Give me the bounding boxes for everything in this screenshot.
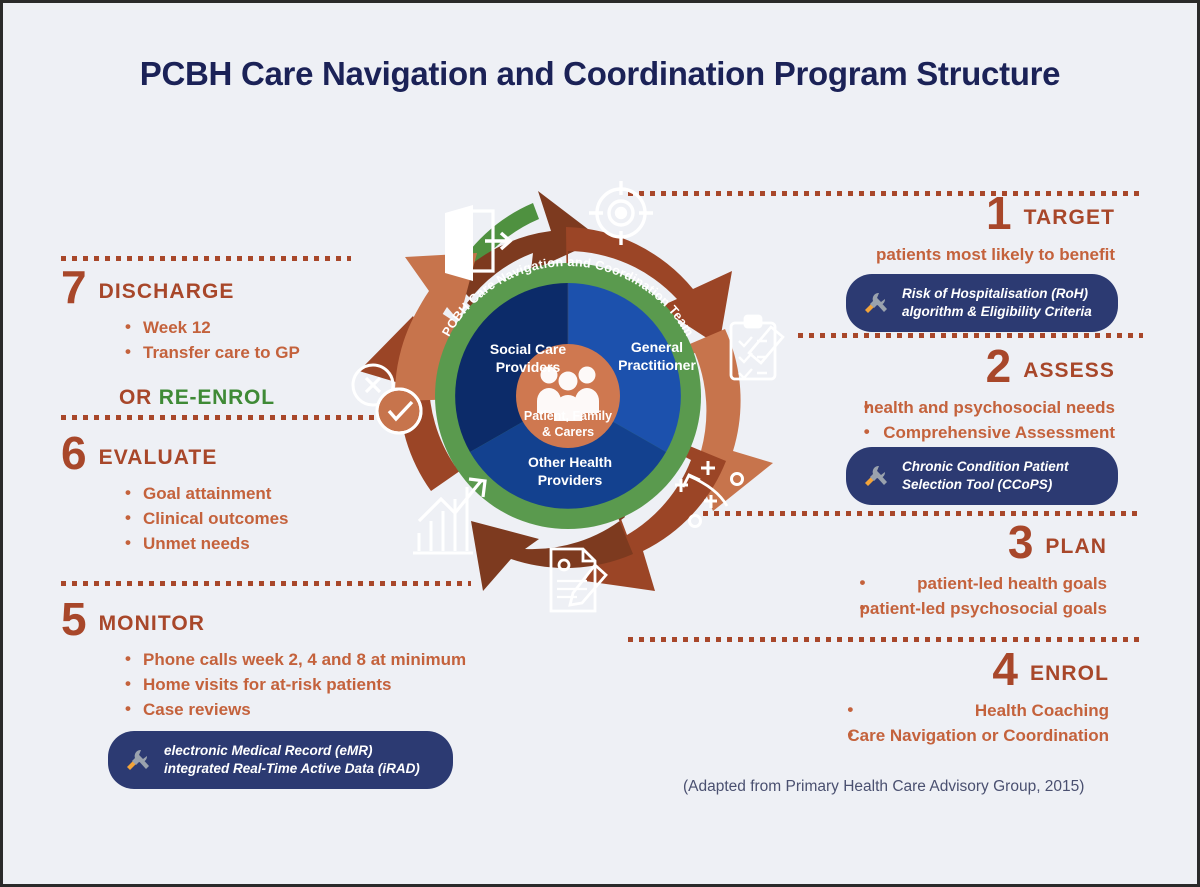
bullet-item: Week 12 (121, 316, 300, 341)
bullet-item: Health Coaching (847, 699, 1109, 724)
step-number: 4 (992, 651, 1017, 689)
step-number: 6 (61, 435, 86, 473)
step-bullets: Week 12 Transfer care to GP (121, 316, 300, 366)
step-label: DISCHARGE (99, 280, 235, 307)
tool-pill-emr-irad[interactable]: electronic Medical Record (eMR) integrat… (108, 731, 453, 789)
step-label: EVALUATE (99, 446, 218, 473)
step-5-monitor: 5 MONITOR Phone calls week 2, 4 and 8 at… (61, 601, 466, 723)
bullet-item: Goal attainment (121, 482, 288, 507)
step-4-enrol: 4 ENROL Health Coaching Care Navigation … (847, 651, 1109, 749)
bullet-item: Home visits for at-risk patients (121, 673, 466, 698)
tool-pill-ccops[interactable]: Chronic Condition Patient Selection Tool… (846, 447, 1118, 505)
wheel-svg: PCBH Care Navigation and Coordination Te… (333, 161, 803, 641)
step-number: 7 (61, 269, 86, 307)
step-bullets: health and psychosocial needs Comprehens… (864, 396, 1115, 446)
pill-text: Chronic Condition Patient Selection Tool… (902, 458, 1069, 494)
step-label: MONITOR (99, 612, 205, 639)
step-label: ASSESS (1023, 359, 1115, 386)
bullet-item: Unmet needs (121, 532, 288, 557)
bar-chart-growth-icon (413, 479, 485, 553)
bullet-item: Comprehensive Assessment (864, 421, 1115, 446)
step-bullets: Phone calls week 2, 4 and 8 at minimum H… (121, 648, 466, 723)
bullet-item: patient-led health goals (859, 572, 1107, 597)
source-footnote: (Adapted from Primary Health Care Adviso… (683, 778, 1084, 796)
step-7-discharge: 7 DISCHARGE Week 12 Transfer care to GP … (61, 269, 300, 410)
step-number: 3 (1008, 524, 1033, 562)
pill-text: electronic Medical Record (eMR) integrat… (164, 742, 420, 778)
step-number: 2 (986, 348, 1011, 386)
bullet-item: patient-led psychosocial goals (859, 597, 1107, 622)
divider-above-assess (798, 333, 1143, 338)
clipboard-checklist-icon (731, 316, 783, 379)
segment-label-gp: General Practitioner (601, 339, 713, 374)
step-number: 1 (986, 195, 1011, 233)
infographic-frame: PCBH Care Navigation and Coordination Pr… (0, 0, 1200, 887)
page-title: PCBH Care Navigation and Coordination Pr… (3, 55, 1197, 93)
segment-label-other-health: Other Health Providers (511, 454, 629, 489)
step-bullets: Health Coaching Care Navigation or Coord… (847, 699, 1109, 749)
bullet-item: health and psychosocial needs (864, 396, 1115, 421)
pill-text: Risk of Hospitalisation (RoH) algorithm … (902, 285, 1092, 321)
step-3-plan: 3 PLAN patient-led health goals patient-… (859, 524, 1107, 622)
step-label: ENROL (1030, 662, 1109, 689)
tools-hammer-wrench-icon (862, 290, 890, 316)
step-label: TARGET (1024, 206, 1115, 233)
bullet-item: Clinical outcomes (121, 507, 288, 532)
tools-hammer-wrench-icon (124, 747, 152, 773)
divider-above-discharge (61, 256, 351, 261)
re-enrol-text: RE-ENROL (159, 386, 275, 409)
step-label: PLAN (1045, 535, 1107, 562)
step-bullets: patient-led health goals patient-led psy… (859, 572, 1107, 622)
core-label: Patient, Family & Carers (518, 409, 618, 440)
or-prefix: OR (119, 386, 159, 409)
tool-pill-roh[interactable]: Risk of Hospitalisation (RoH) algorithm … (846, 274, 1118, 332)
care-cycle-wheel: PCBH Care Navigation and Coordination Te… (333, 161, 803, 641)
tools-hammer-wrench-icon (862, 463, 890, 489)
bullet-item: Care Navigation or Coordination (847, 724, 1109, 749)
bullet-item: Case reviews (121, 698, 466, 723)
segment-label-social-care: Social Care Providers (473, 341, 583, 376)
bullet-item: Transfer care to GP (121, 341, 300, 366)
bullet-item: Phone calls week 2, 4 and 8 at minimum (121, 648, 466, 673)
step-number: 5 (61, 601, 86, 639)
step-subline: patients most likely to benefit (876, 243, 1115, 268)
step-6-evaluate: 6 EVALUATE Goal attainment Clinical outc… (61, 435, 288, 557)
or-reenrol-line: OR RE-ENROL (119, 386, 300, 410)
step-2-assess: 2 ASSESS health and psychosocial needs C… (864, 348, 1115, 446)
step-bullets: Goal attainment Clinical outcomes Unmet … (121, 482, 288, 557)
step-1-target: 1 TARGET patients most likely to benefit (876, 195, 1115, 268)
